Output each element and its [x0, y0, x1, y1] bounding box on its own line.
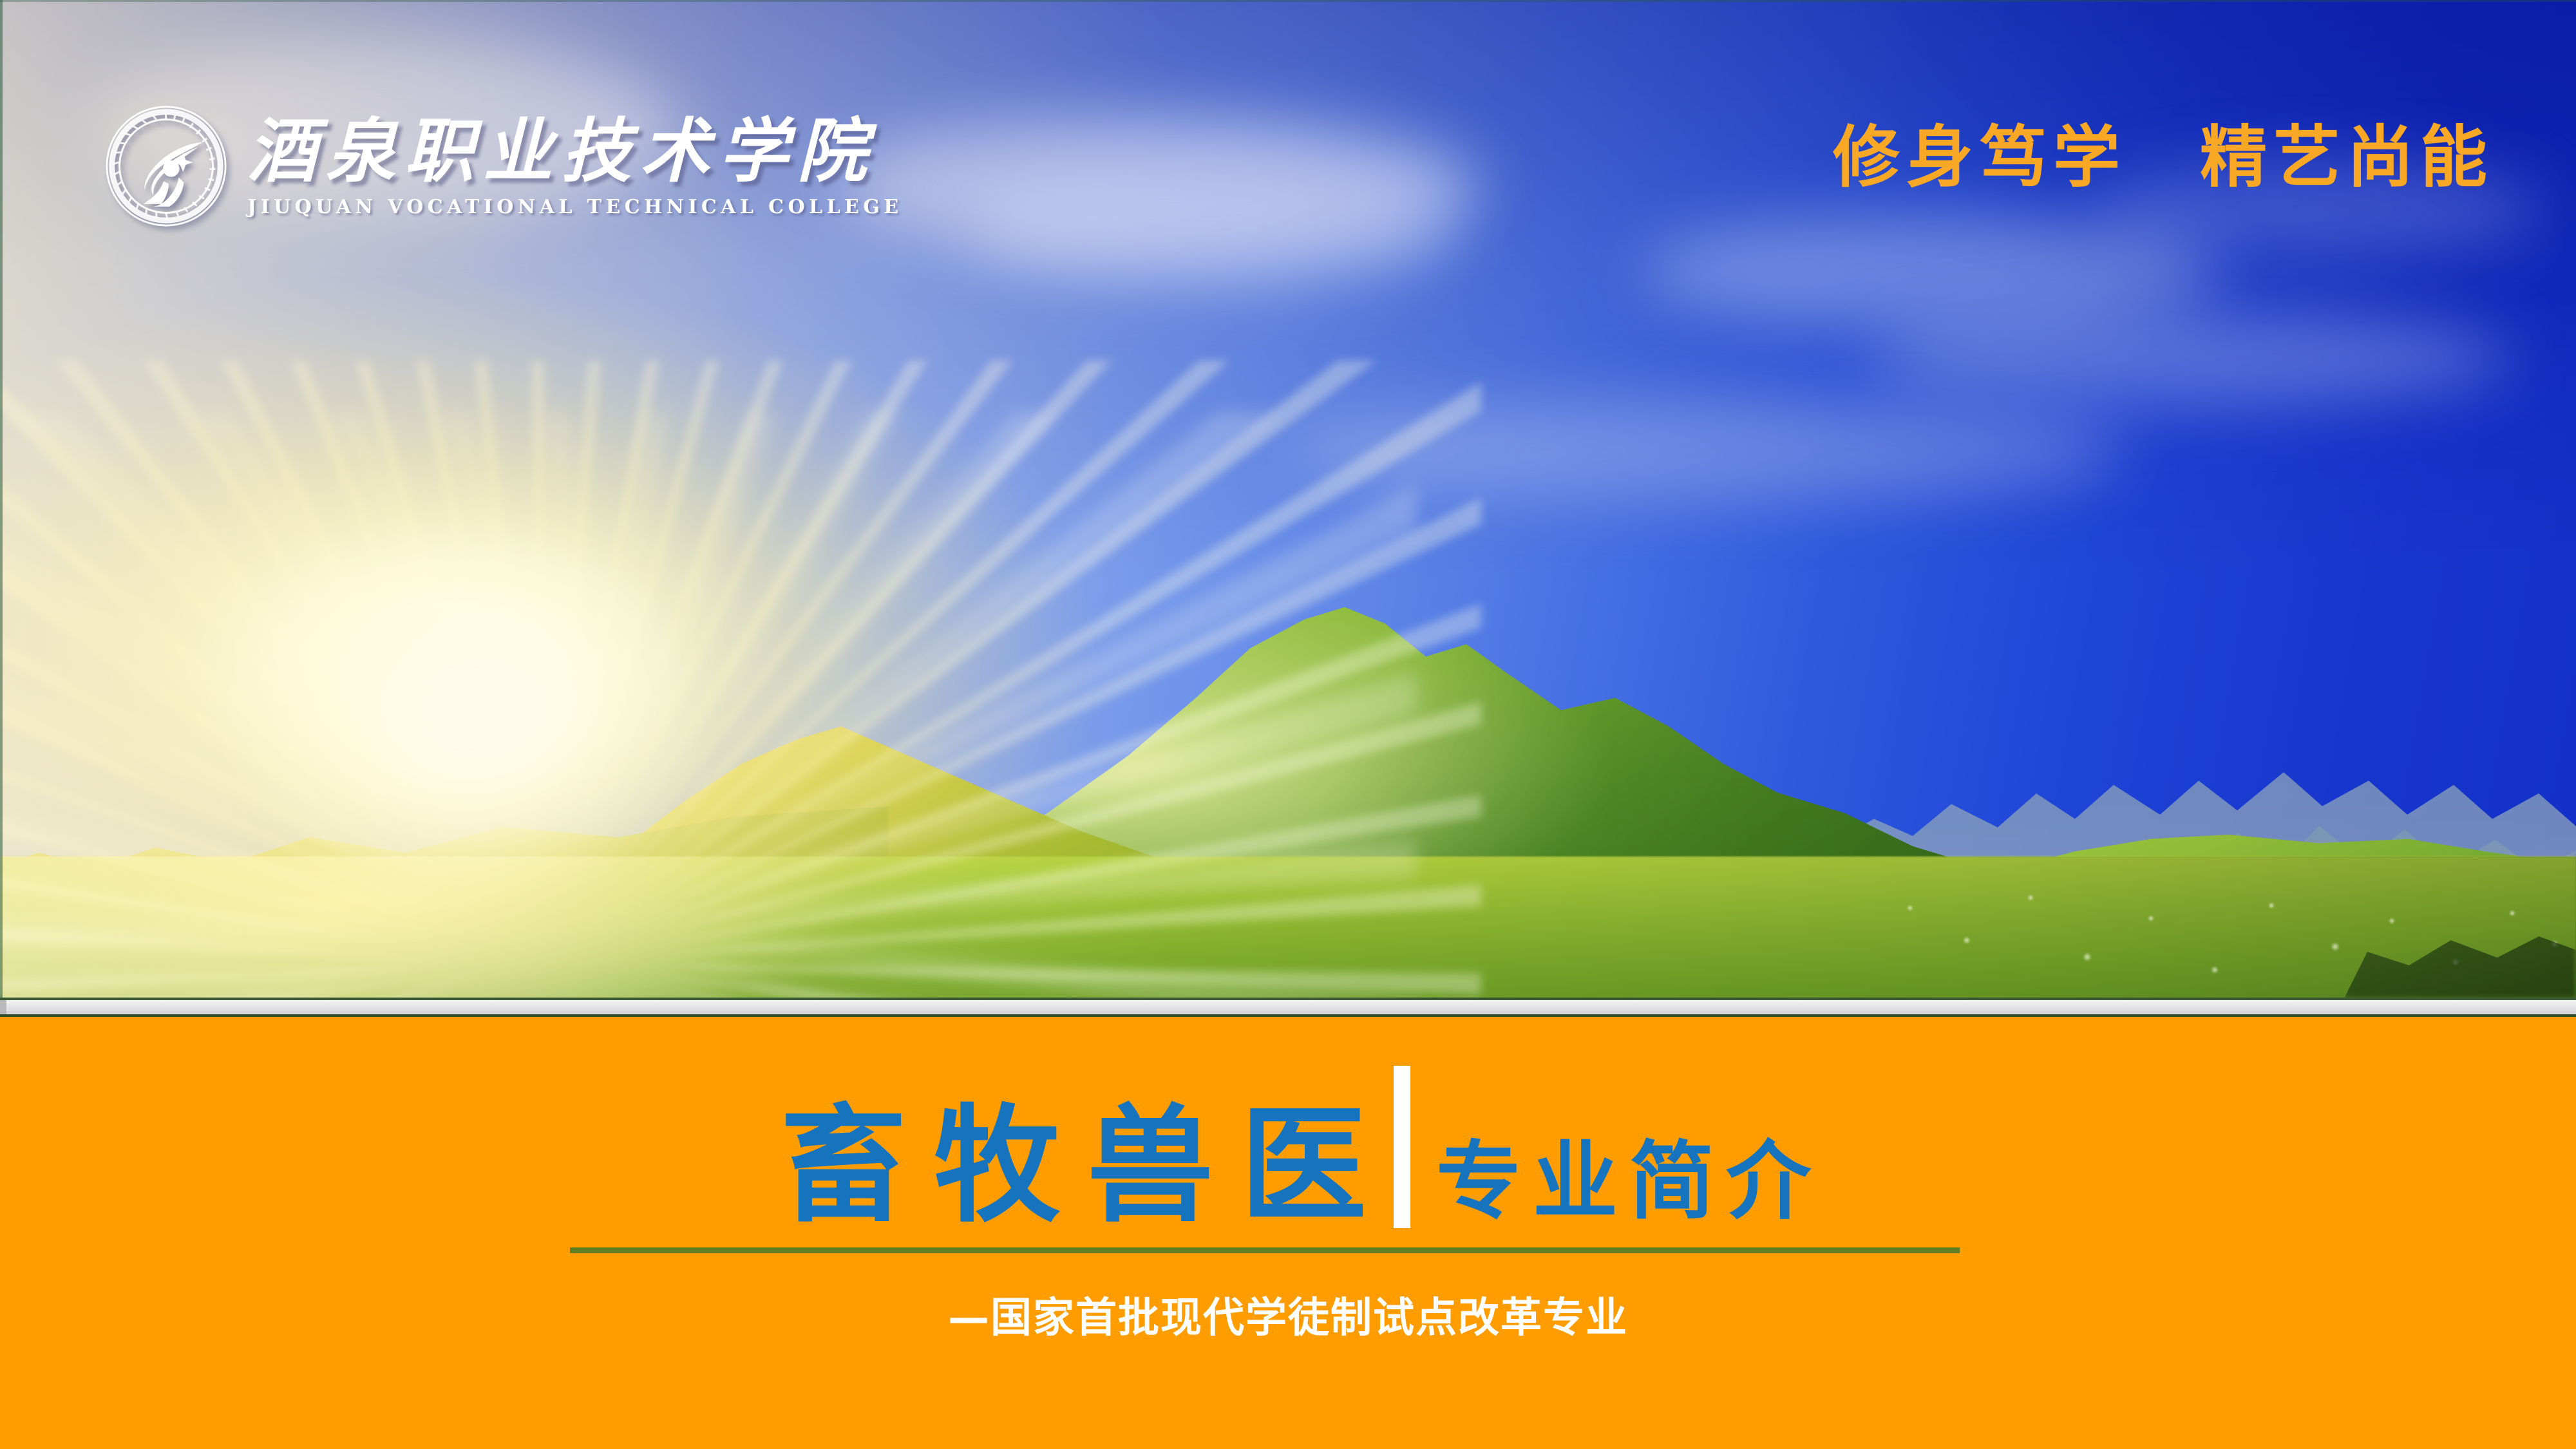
- separator-gray-bar: [0, 1000, 2576, 1014]
- title-divider: [1394, 1066, 1410, 1228]
- banner-left-edge: [0, 0, 3, 998]
- sun-core: [213, 509, 715, 908]
- school-name-block: 酒泉职业技术学院 JIUQUAN VOCATIONAL TECHNICAL CO…: [247, 114, 903, 218]
- title-row: 畜牧兽医 专业简介: [0, 1066, 2576, 1229]
- title-slide: 酒泉职业技术学院 JIUQUAN VOCATIONAL TECHNICAL CO…: [0, 0, 2576, 1449]
- title-caption: —国家首批现代学徒制试点改革专业: [0, 1285, 2576, 1344]
- cloud-shape: [1868, 309, 2512, 406]
- banner-top-edge: [0, 0, 2576, 2]
- title-underline: [570, 1247, 1960, 1253]
- school-logo: 酒泉职业技术学院 JIUQUAN VOCATIONAL TECHNICAL CO…: [103, 103, 903, 229]
- school-name-cn: 酒泉职业技术学院: [247, 114, 903, 189]
- school-name-en: JIUQUAN VOCATIONAL TECHNICAL COLLEGE: [247, 196, 903, 218]
- jiuquan-college-emblem-icon: [103, 103, 229, 229]
- page-subtitle: 专业简介: [1425, 1139, 1823, 1229]
- page-title: 畜牧兽医: [753, 1103, 1394, 1229]
- school-motto: 修身笃学 精艺尚能: [1833, 124, 2494, 191]
